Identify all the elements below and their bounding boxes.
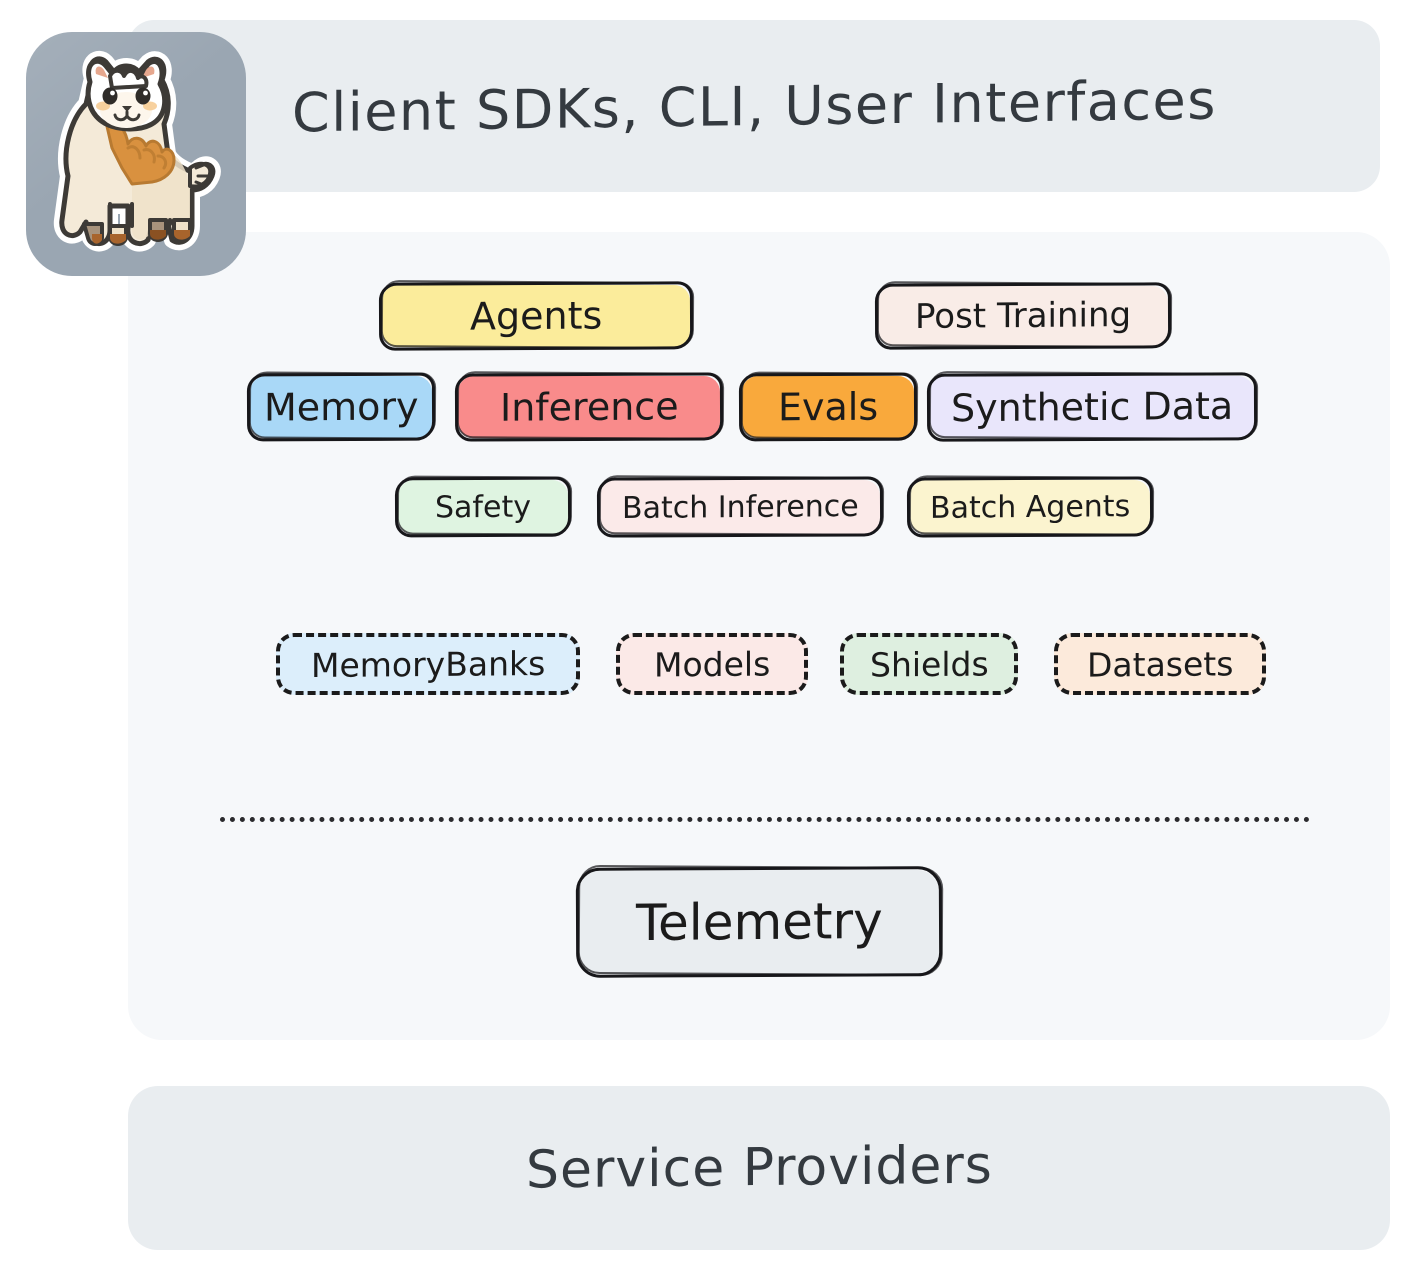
- api-node-label: Inference: [500, 384, 679, 430]
- api-node-label: Models: [654, 644, 770, 684]
- api-node-evals[interactable]: Evals: [742, 376, 914, 438]
- layer-separator: [220, 817, 1310, 822]
- api-node-memorybanks[interactable]: MemoryBanks: [276, 633, 580, 695]
- api-node-safety[interactable]: Safety: [398, 480, 568, 534]
- api-node-batch-agents[interactable]: Batch Agents: [910, 480, 1150, 534]
- telemetry-row: Telemetry: [128, 870, 1390, 974]
- llama-logo-icon: [40, 48, 232, 262]
- api-node-label: MemoryBanks: [311, 643, 545, 684]
- api-node-memory[interactable]: Memory: [250, 376, 432, 438]
- api-node-post-training[interactable]: Post Training: [878, 286, 1168, 346]
- api-node-label: Safety: [435, 489, 531, 525]
- api-node-label: Datasets: [1087, 644, 1233, 684]
- page-title: Client SDKs, CLI, User Interfaces: [292, 68, 1217, 144]
- api-node-synthetic-data[interactable]: Synthetic Data: [930, 376, 1254, 438]
- api-node-datasets[interactable]: Datasets: [1054, 633, 1266, 695]
- service-providers-title: Service Providers: [526, 1136, 993, 1201]
- api-node-batch-inference[interactable]: Batch Inference: [600, 480, 880, 534]
- api-node-label: Shields: [870, 644, 989, 684]
- api-node-label: Synthetic Data: [951, 384, 1233, 430]
- api-node-agents[interactable]: Agents: [382, 285, 690, 347]
- api-surface-panel: AgentsPost Training MemoryInferenceEvals…: [128, 232, 1390, 1040]
- service-providers-panel: Service Providers: [128, 1086, 1390, 1250]
- llama-logo-badge: [26, 32, 246, 276]
- api-node-inference[interactable]: Inference: [458, 376, 720, 438]
- api-node-label: Post Training: [915, 295, 1131, 337]
- api-node-models[interactable]: Models: [616, 633, 808, 695]
- api-node-label: Batch Inference: [622, 488, 859, 525]
- api-node-shields[interactable]: Shields: [840, 633, 1018, 695]
- client-layer-panel: Client SDKs, CLI, User Interfaces: [128, 20, 1380, 192]
- api-node-label: Evals: [778, 385, 878, 430]
- api-node-label: Agents: [470, 293, 602, 338]
- telemetry-label: Telemetry: [636, 892, 883, 952]
- telemetry-node[interactable]: Telemetry: [579, 870, 939, 974]
- api-node-label: Batch Agents: [930, 489, 1130, 526]
- api-node-label: Memory: [264, 384, 419, 429]
